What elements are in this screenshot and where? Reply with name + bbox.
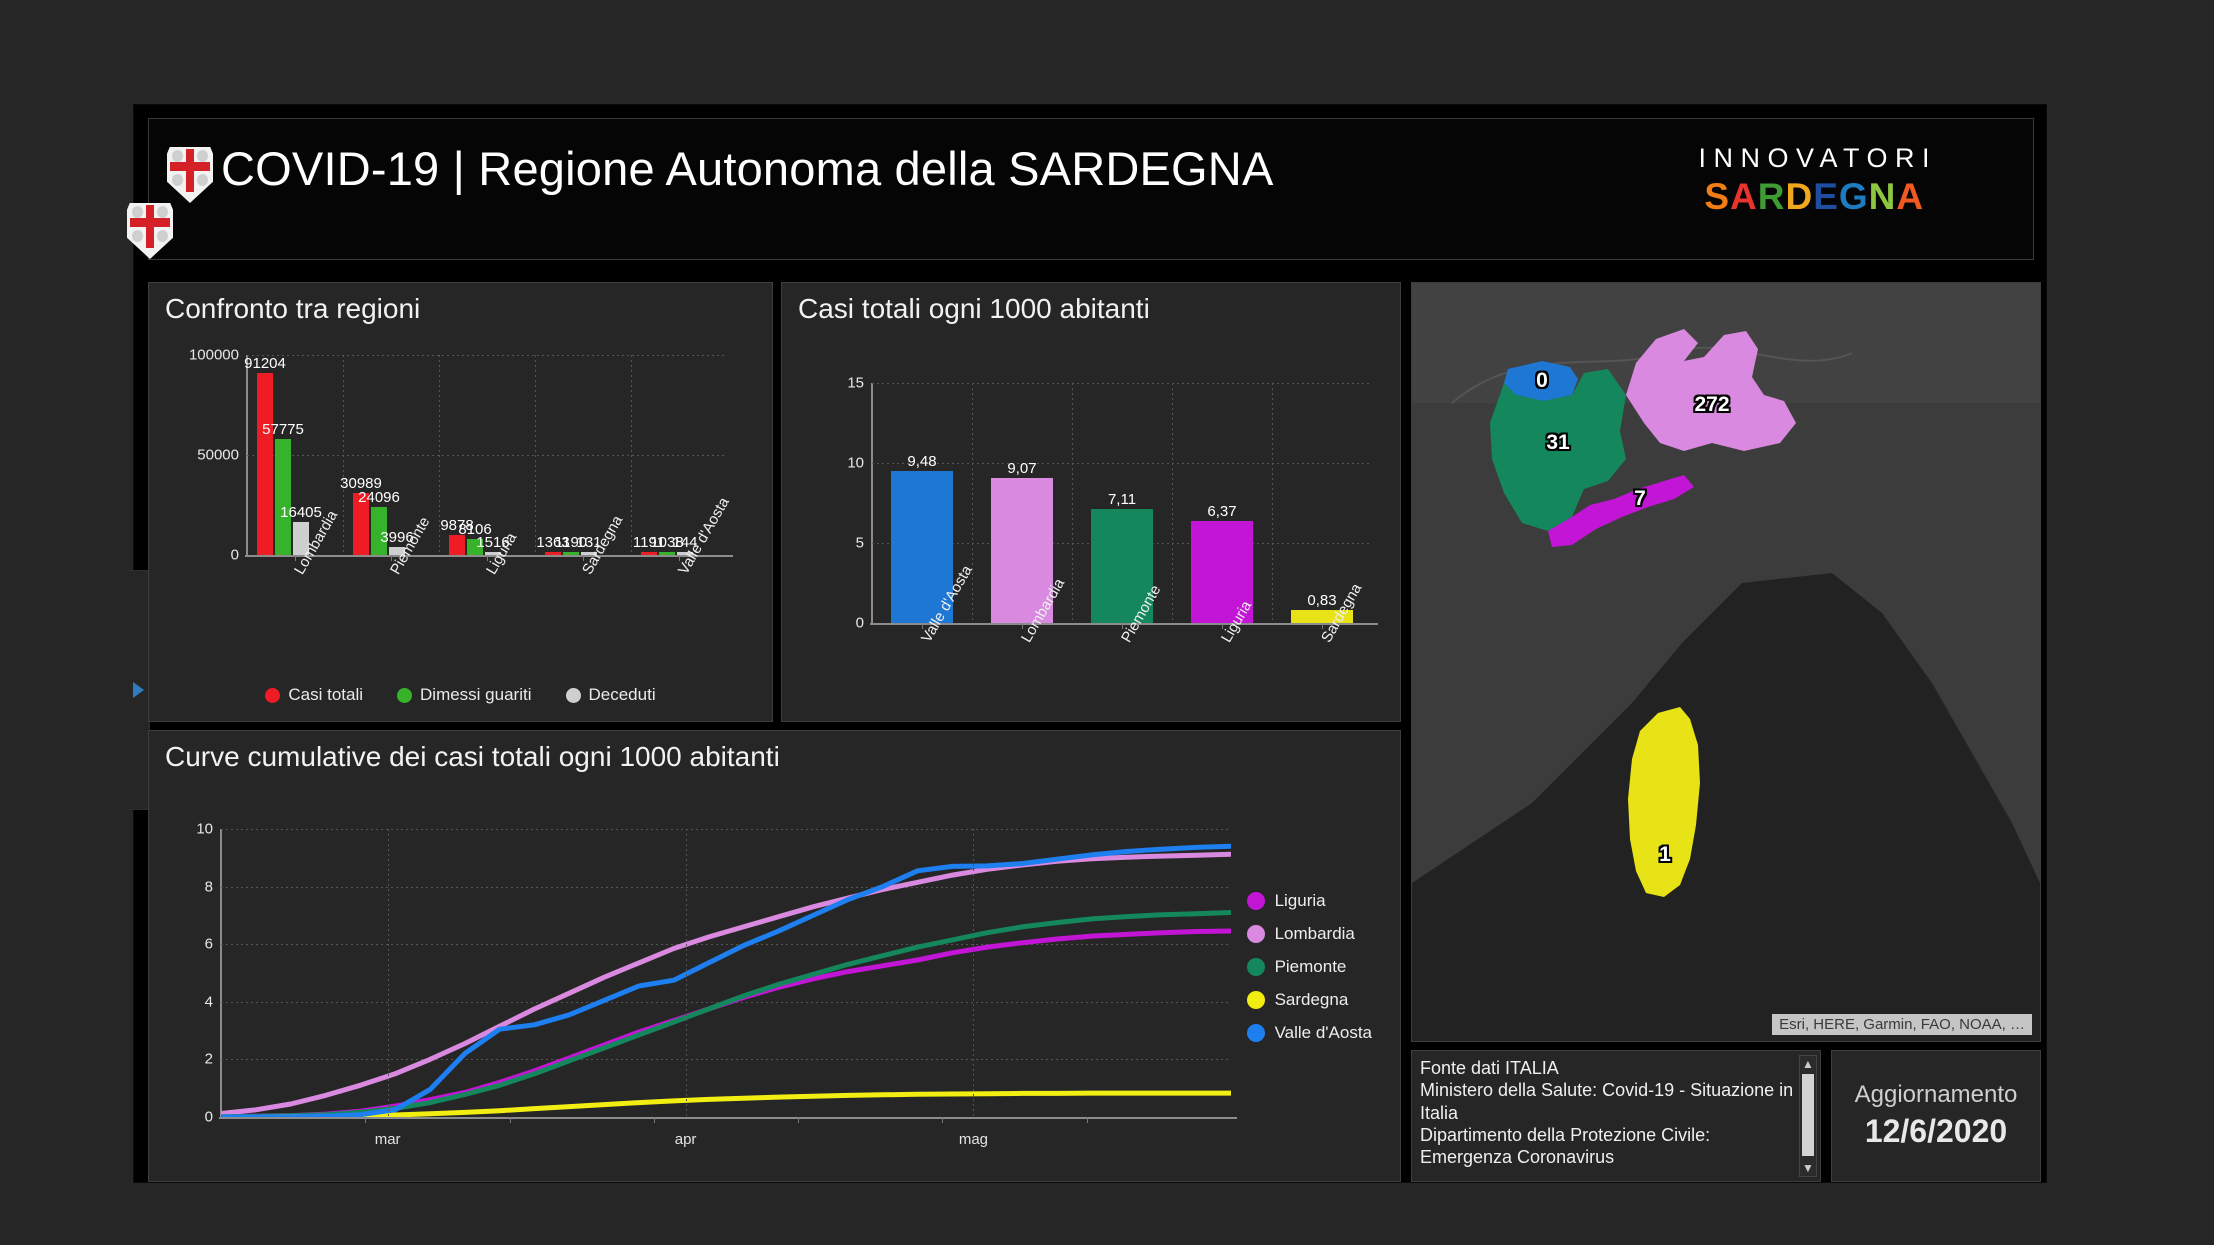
chevron-right-icon (133, 682, 144, 698)
gridline (872, 463, 1372, 464)
bar-value-label: 16405 (280, 504, 322, 521)
line-chart-legend: LiguriaLombardiaPiemonteSardegnaValle d'… (1247, 891, 1372, 1056)
map-label-sardegna: 1 (1659, 843, 1671, 867)
bar: 57775 (275, 439, 291, 555)
legend-color-dot (1247, 1024, 1265, 1042)
bar: 91204 (257, 373, 273, 555)
x-tick (942, 1117, 943, 1123)
legend-label: Dimessi guariti (420, 685, 531, 705)
bar-value-label: 91204 (244, 355, 286, 372)
gridline-vertical (388, 829, 389, 1117)
legend-item[interactable]: Sardegna (1247, 990, 1372, 1010)
legend-item[interactable]: Casi totali (265, 685, 363, 705)
y-tick-label: 5 (856, 535, 864, 552)
bar-value-label: 9,48 (907, 453, 936, 470)
y-tick-label: 2 (205, 1051, 213, 1068)
panel-map[interactable]: 0 31 272 7 1 Esri, HERE, Garmin, FAO, NO… (1411, 282, 2041, 1042)
chevron-down-icon[interactable]: ▼ (1802, 1160, 1814, 1176)
gridline-vertical (686, 829, 687, 1117)
gridline (872, 383, 1372, 384)
map-label-valle-daosta: 0 (1536, 369, 1548, 393)
x-tick-label: mag (959, 1131, 988, 1148)
map-label-liguria: 7 (1634, 487, 1646, 511)
x-tick-label: mar (375, 1131, 401, 1148)
gridline (247, 355, 727, 356)
innovatori-sardegna-logo: INNOVATORI SARDEGNA (1691, 143, 1937, 218)
legend-label: Piemonte (1275, 957, 1347, 977)
logo-letter: R (1758, 176, 1786, 218)
y-tick-label: 100000 (189, 347, 239, 364)
legend-label: Liguria (1275, 891, 1326, 911)
logo-letter: A (1730, 176, 1758, 218)
x-tick (1087, 1117, 1088, 1123)
y-tick-label: 50000 (197, 447, 239, 464)
panel-aggiornamento: Aggiornamento 12/6/2020 (1831, 1050, 2041, 1182)
line-series-lombardia (221, 854, 1231, 1113)
logo-innovatori-text: INNOVATORI (1691, 143, 1937, 174)
legend-item[interactable]: Piemonte (1247, 957, 1372, 977)
bar-value-label: 0,83 (1307, 592, 1336, 609)
dashboard-header: COVID-19 | Regione Autonoma della SARDEG… (148, 118, 2034, 260)
legend-label: Lombardia (1275, 924, 1355, 944)
gridline-vertical (1072, 383, 1073, 623)
legend-label: Sardegna (1275, 990, 1349, 1010)
gridline-vertical (631, 355, 632, 555)
legend-color-dot (1247, 925, 1265, 943)
y-tick-label: 15 (847, 375, 864, 392)
aggiornamento-date: 12/6/2020 (1832, 1113, 2040, 1150)
panel-title-casi1000: Casi totali ogni 1000 abitanti (798, 293, 1150, 325)
y-tick-label: 6 (205, 936, 213, 953)
page-title: COVID-19 | Regione Autonoma della SARDEG… (221, 141, 1274, 196)
panel-curve-cumulative: Curve cumulative dei casi totali ogni 10… (148, 730, 1401, 1182)
legend-label: Casi totali (288, 685, 363, 705)
x-tick (510, 1117, 511, 1123)
legend-label: Valle d'Aosta (1275, 1023, 1372, 1043)
fonte-scrollbar[interactable]: ▲ ▼ (1799, 1055, 1817, 1177)
y-tick-label: 0 (856, 615, 864, 632)
bar: 9878 (449, 535, 465, 555)
panel-title-confronto: Confronto tra regioni (165, 293, 420, 325)
scrollbar-thumb[interactable] (1802, 1074, 1814, 1156)
map-attribution: Esri, HERE, Garmin, FAO, NOAA, … (1772, 1014, 2032, 1035)
legend-color-dot (1247, 892, 1265, 910)
bar: 1038 (659, 552, 675, 555)
gridline-vertical (343, 355, 344, 555)
bar: 1363 (545, 552, 561, 555)
x-tick-label: apr (675, 1131, 697, 1148)
logo-letter: D (1785, 176, 1813, 218)
y-tick-label: 10 (847, 455, 864, 472)
panel-casi-totali-ogni-1000-abitanti: Casi totali ogni 1000 abitanti 0510159,4… (781, 282, 1401, 722)
sardegna-crest-icon-right (127, 203, 173, 259)
legend-item[interactable]: Dimessi guariti (397, 685, 531, 705)
bar-value-label: 24096 (358, 489, 400, 506)
x-tick (798, 1117, 799, 1123)
legend-color-dot (566, 688, 581, 703)
bar-chart-confronto-plot: 050000100000912045777516405Lombardia3098… (247, 355, 727, 555)
bar-chart-confronto-legend: Casi totaliDimessi guaritiDeceduti (149, 685, 772, 705)
logo-sardegna-text: SARDEGNA (1691, 176, 1937, 218)
logo-letter: N (1869, 176, 1897, 218)
y-tick-label: 10 (196, 821, 213, 838)
sidebar-expand-handle[interactable] (128, 570, 150, 810)
logo-letter: G (1839, 176, 1869, 218)
gridline-vertical (972, 383, 973, 623)
line-series-piemonte (221, 913, 1231, 1117)
fonte-line: Ministero della Salute: Covid-19 - Situa… (1420, 1079, 1794, 1124)
bar: 1190 (563, 552, 579, 555)
legend-label: Deceduti (589, 685, 656, 705)
y-tick-label: 4 (205, 993, 213, 1010)
legend-item[interactable]: Liguria (1247, 891, 1372, 911)
gridline-vertical (973, 829, 974, 1117)
line-chart-curve-plot: 0246810maraprmag (221, 829, 1231, 1117)
y-tick-label: 8 (205, 878, 213, 895)
y-tick-label: 0 (205, 1109, 213, 1126)
legend-color-dot (1247, 958, 1265, 976)
x-tick (654, 1117, 655, 1123)
bar-value-label: 6,37 (1207, 503, 1236, 520)
legend-color-dot (1247, 991, 1265, 1009)
fonte-line: Dipartimento della Protezione Civile: Em… (1420, 1124, 1794, 1169)
y-tick-label: 0 (231, 547, 239, 564)
logo-letter: E (1813, 176, 1839, 218)
bar: 1191 (641, 552, 657, 555)
map-label-piemonte: 31 (1546, 431, 1569, 455)
bar-chart-casi1000-plot: 0510159,48Valle d'Aosta9,07Lombardia7,11… (872, 383, 1372, 623)
line-series-liguria (221, 931, 1231, 1116)
y-axis-line (871, 383, 873, 623)
panel-title-curve: Curve cumulative dei casi totali ogni 10… (165, 741, 780, 773)
x-tick (365, 1117, 366, 1123)
gridline-vertical (1272, 383, 1273, 623)
legend-color-dot (265, 688, 280, 703)
line-chart-svg (221, 829, 1231, 1117)
aggiornamento-label: Aggiornamento (1832, 1081, 2040, 1109)
panel-fonte-dati: Fonte dati ITALIAMinistero della Salute:… (1411, 1050, 1821, 1182)
gridline-vertical (535, 355, 536, 555)
bar-value-label: 7,11 (1108, 491, 1136, 508)
line-series-valle-d-aosta (221, 846, 1231, 1117)
logo-letter: S (1704, 176, 1730, 218)
chevron-up-icon[interactable]: ▲ (1802, 1056, 1814, 1072)
x-axis-line (219, 1117, 1237, 1119)
dashboard-root: COVID-19 | Regione Autonoma della SARDEG… (0, 0, 2214, 1245)
bar-value-label: 9,07 (1007, 460, 1036, 477)
bar-value-label: 57775 (262, 421, 304, 438)
legend-color-dot (397, 688, 412, 703)
logo-letter: A (1896, 176, 1924, 218)
legend-item[interactable]: Lombardia (1247, 924, 1372, 944)
panel-confronto-tra-regioni: Confronto tra regioni 050000100000912045… (148, 282, 773, 722)
fonte-line: Fonte dati ITALIA (1420, 1057, 1794, 1079)
legend-item[interactable]: Valle d'Aosta (1247, 1023, 1372, 1043)
gridline-vertical (1172, 383, 1173, 623)
map-label-lombardia: 272 (1694, 393, 1729, 417)
sardegna-crest-icon-left (167, 147, 213, 203)
gridline (247, 455, 727, 456)
legend-item[interactable]: Deceduti (566, 685, 656, 705)
fonte-dati-text: Fonte dati ITALIAMinistero della Salute:… (1420, 1057, 1794, 1169)
